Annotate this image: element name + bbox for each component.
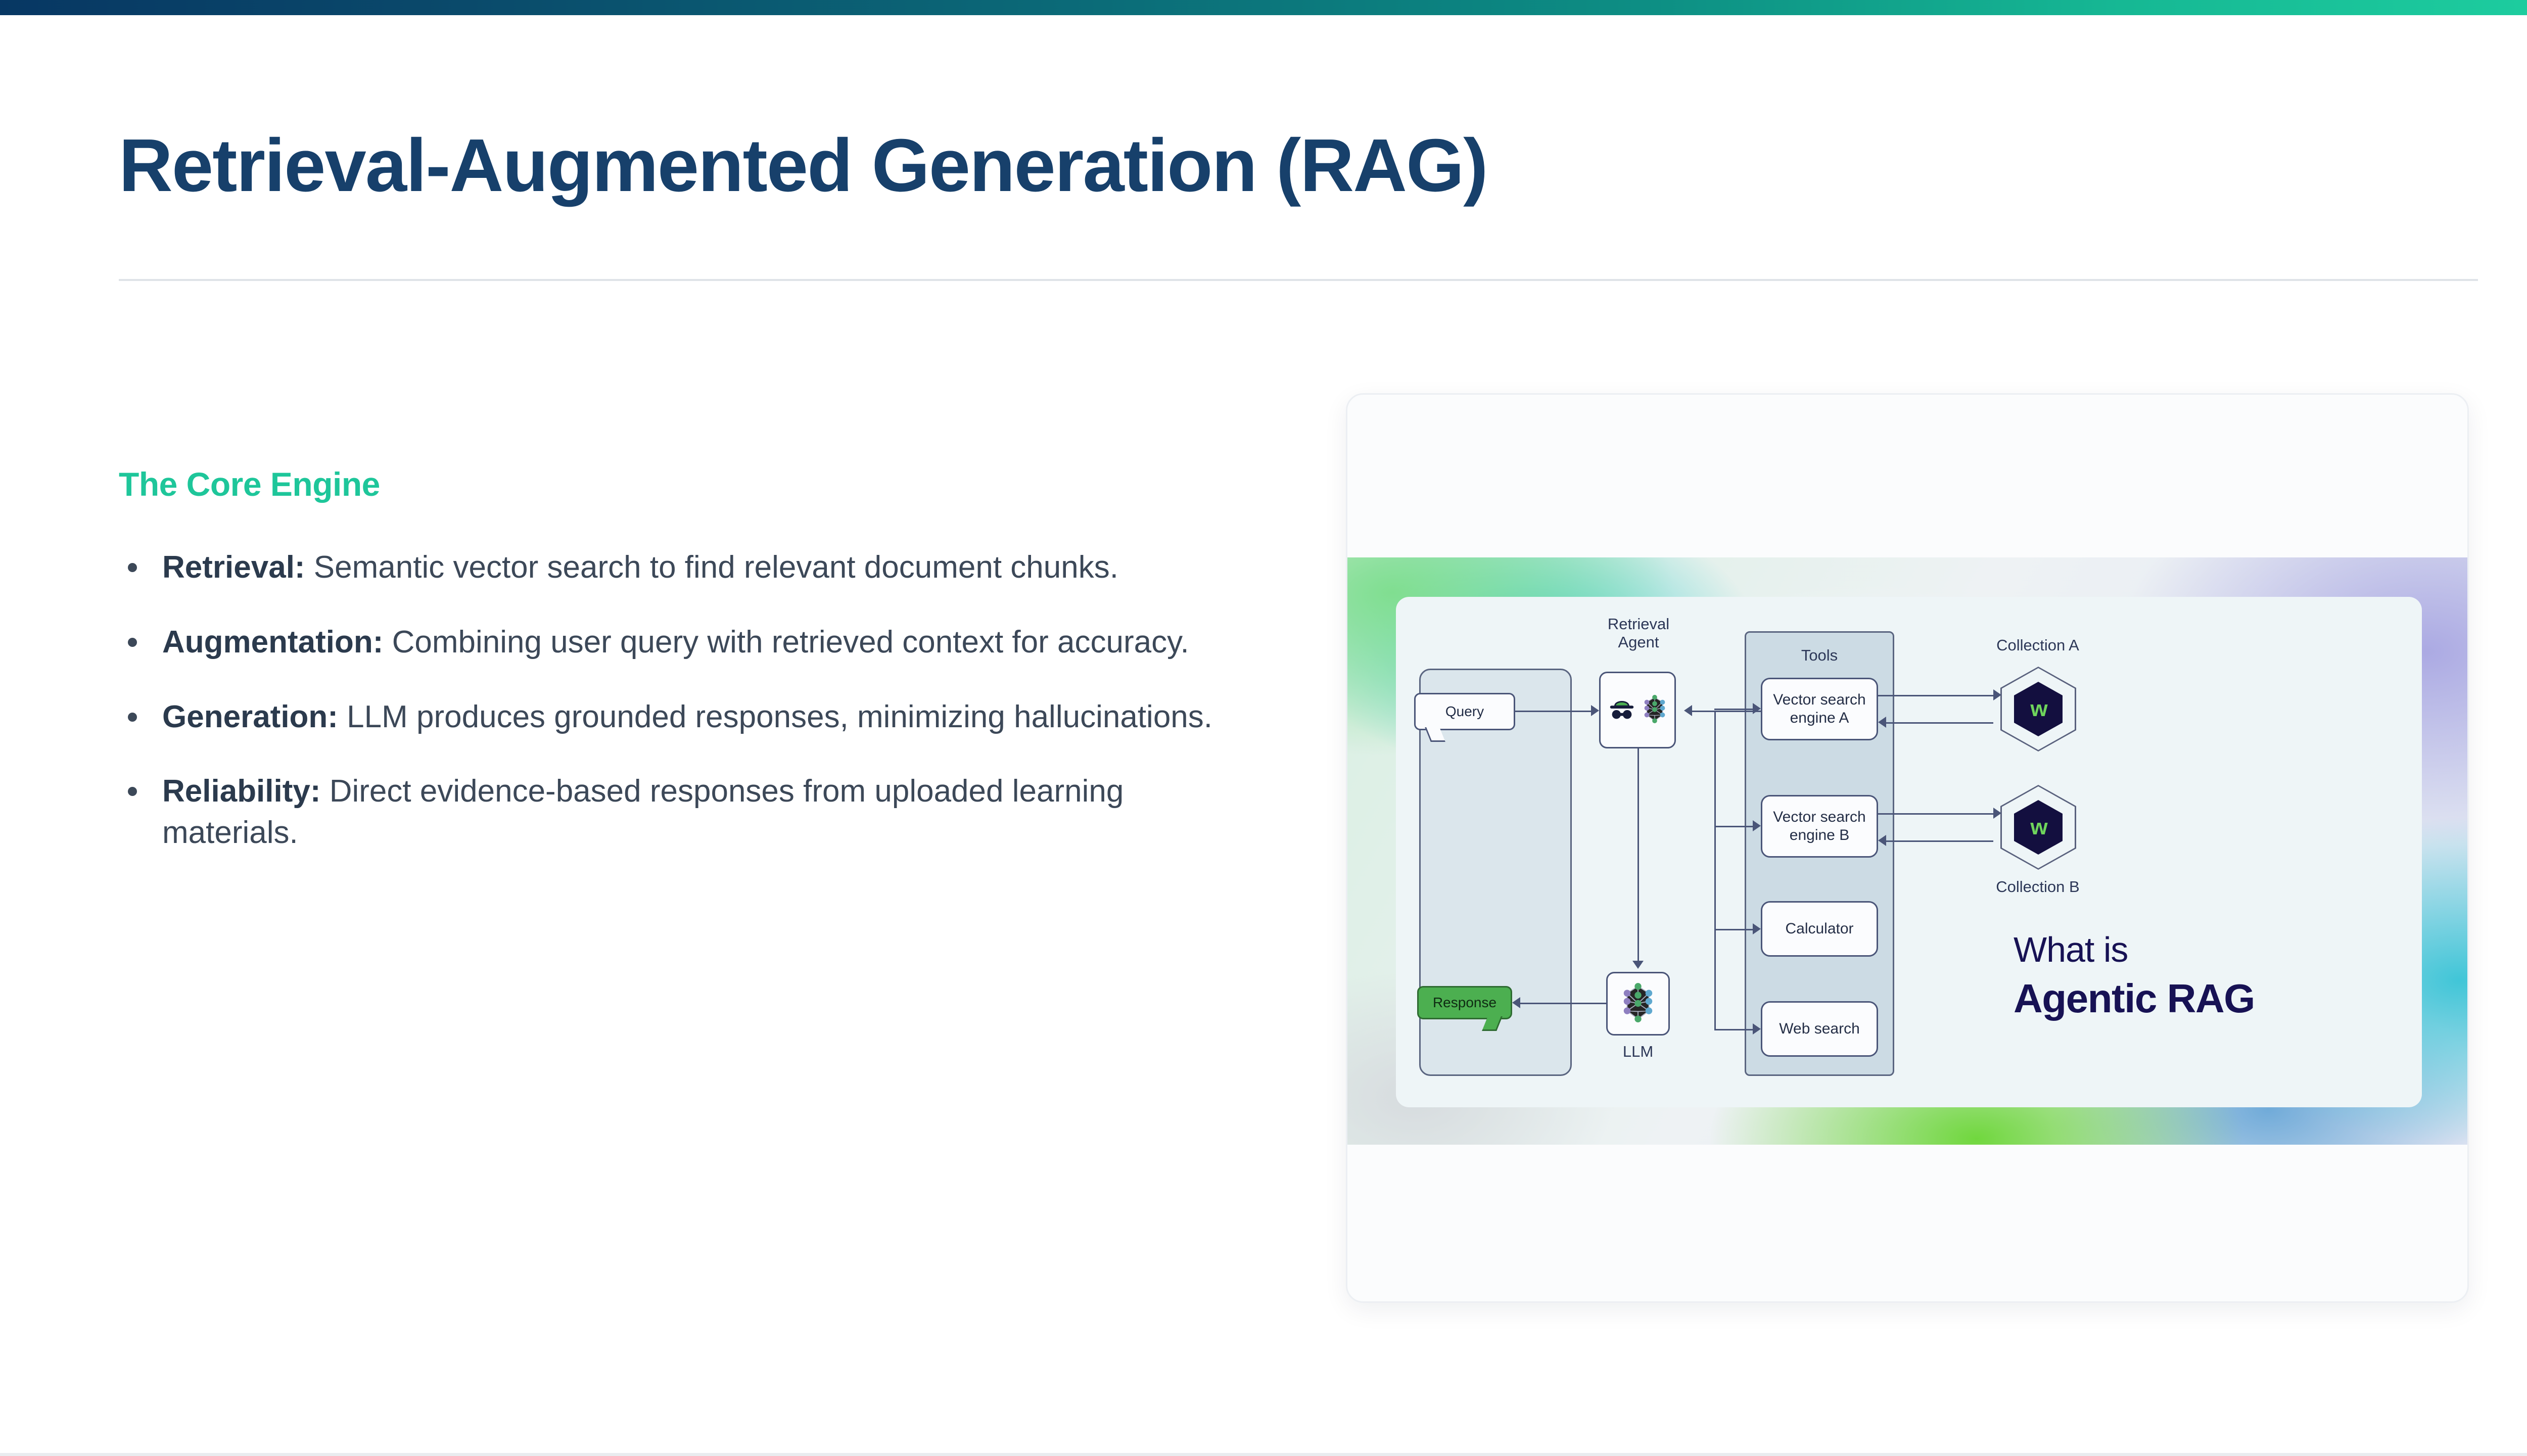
tool-web-search: Web search: [1761, 1001, 1878, 1057]
agentic-rag-diagram: Query Response Retrieval Agent: [1396, 597, 2422, 1107]
connector-tools-to-agent: [1692, 711, 1761, 712]
query-bubble-label: Query: [1445, 703, 1484, 720]
collection-a-label: Collection A: [1972, 636, 2103, 654]
connector-tool-b-to-collection-b: [1878, 813, 1993, 815]
section-heading: The Core Engine: [119, 465, 1261, 503]
arrowhead-icon: [1591, 705, 1599, 716]
top-accent-bar: [0, 0, 2527, 15]
bullet-text: Combining user query with retrieved cont…: [383, 625, 1189, 660]
list-item: Reliability: Direct evidence-based respo…: [119, 771, 1261, 854]
bullet-term: Generation:: [162, 699, 338, 734]
tool-calculator: Calculator: [1761, 901, 1878, 957]
collection-b-label: Collection B: [1972, 878, 2103, 896]
title-divider: [119, 279, 2478, 281]
arrowhead-icon: [1878, 717, 1886, 728]
arrowhead-icon: [1512, 997, 1520, 1008]
tool-vector-search-engine-b: Vector search engine B: [1761, 795, 1878, 858]
connector-collection-a-to-tool-a: [1886, 722, 1993, 724]
llm-node: [1606, 972, 1670, 1036]
list-item: Generation: LLM produces grounded respon…: [119, 696, 1261, 738]
bullet-text: LLM produces grounded responses, minimiz…: [338, 699, 1212, 734]
tools-label: Tools: [1745, 646, 1894, 665]
connector-bus-to-tool-b: [1714, 826, 1753, 827]
arrowhead-icon: [1632, 961, 1644, 969]
connector-collection-b-to-tool-b: [1886, 840, 1993, 842]
tool-label-line2: engine A: [1790, 709, 1849, 727]
tool-label-line1: Vector search: [1773, 691, 1865, 709]
arrowhead-icon: [1753, 820, 1761, 831]
neural-network-icon: [1641, 693, 1669, 727]
collection-b-node: w: [2000, 785, 2076, 870]
arrowhead-icon: [1878, 835, 1886, 846]
bullet-term: Retrieval:: [162, 550, 305, 585]
connector-tool-a-to-collection-a: [1878, 695, 1993, 696]
response-bubble-label: Response: [1433, 995, 1496, 1011]
arrowhead-icon: [1753, 923, 1761, 934]
query-bubble: Query: [1414, 693, 1515, 730]
connector-llm-to-response: [1520, 1003, 1606, 1004]
card-headline: What is Agentic RAG: [2014, 930, 2255, 1021]
arrowhead-icon: [1993, 689, 2001, 700]
llm-label: LLM: [1602, 1043, 1674, 1061]
response-bubble: Response: [1417, 986, 1512, 1019]
connector-query-to-agent: [1515, 711, 1591, 712]
list-item: Retrieval: Semantic vector search to fin…: [119, 547, 1261, 588]
tool-vector-search-engine-a: Vector search engine A: [1761, 678, 1878, 740]
connector-bus-to-web-search: [1714, 1029, 1753, 1030]
collection-a-node: w: [2000, 667, 2076, 752]
headline-line-1: What is: [2014, 930, 2255, 969]
arrowhead-icon: [1993, 808, 2001, 819]
connector-agent-to-llm: [1637, 748, 1639, 961]
connector-bus-to-calculator: [1714, 929, 1753, 930]
tool-label: Calculator: [1785, 920, 1853, 938]
tool-label: Web search: [1779, 1020, 1860, 1038]
bullet-term: Augmentation:: [162, 625, 383, 660]
core-engine-bullet-list: Retrieval: Semantic vector search to fin…: [119, 547, 1261, 854]
tool-label-line1: Vector search: [1773, 808, 1865, 826]
retrieval-agent-label: Retrieval Agent: [1583, 615, 1694, 651]
detective-icon: [1606, 693, 1637, 727]
weaviate-logo-icon: w: [2014, 682, 2063, 736]
retrieval-agent-node: [1599, 672, 1676, 748]
connector-bus-to-tool-a: [1714, 709, 1753, 710]
weaviate-logo-icon: w: [2014, 800, 2063, 855]
headline-line-2: Agentic RAG: [2014, 976, 2255, 1021]
list-item: Augmentation: Combining user query with …: [119, 622, 1261, 663]
agentic-rag-image-card: Query Response Retrieval Agent: [1346, 393, 2469, 1303]
bullet-term: Reliability:: [162, 774, 321, 809]
tool-label-line2: engine B: [1790, 826, 1849, 844]
left-content-column: The Core Engine Retrieval: Semantic vect…: [119, 465, 1261, 887]
arrowhead-icon: [1753, 703, 1761, 714]
arrowhead-icon: [1753, 1023, 1761, 1035]
neural-network-icon: [1618, 981, 1658, 1027]
arrowhead-icon: [1684, 705, 1692, 716]
slide-root: Retrieval-Augmented Generation (RAG) The…: [0, 0, 2527, 1456]
bullet-text: Semantic vector search to find relevant …: [305, 550, 1118, 585]
page-title: Retrieval-Augmented Generation (RAG): [119, 126, 1487, 205]
tools-bus-line: [1714, 711, 1716, 1030]
